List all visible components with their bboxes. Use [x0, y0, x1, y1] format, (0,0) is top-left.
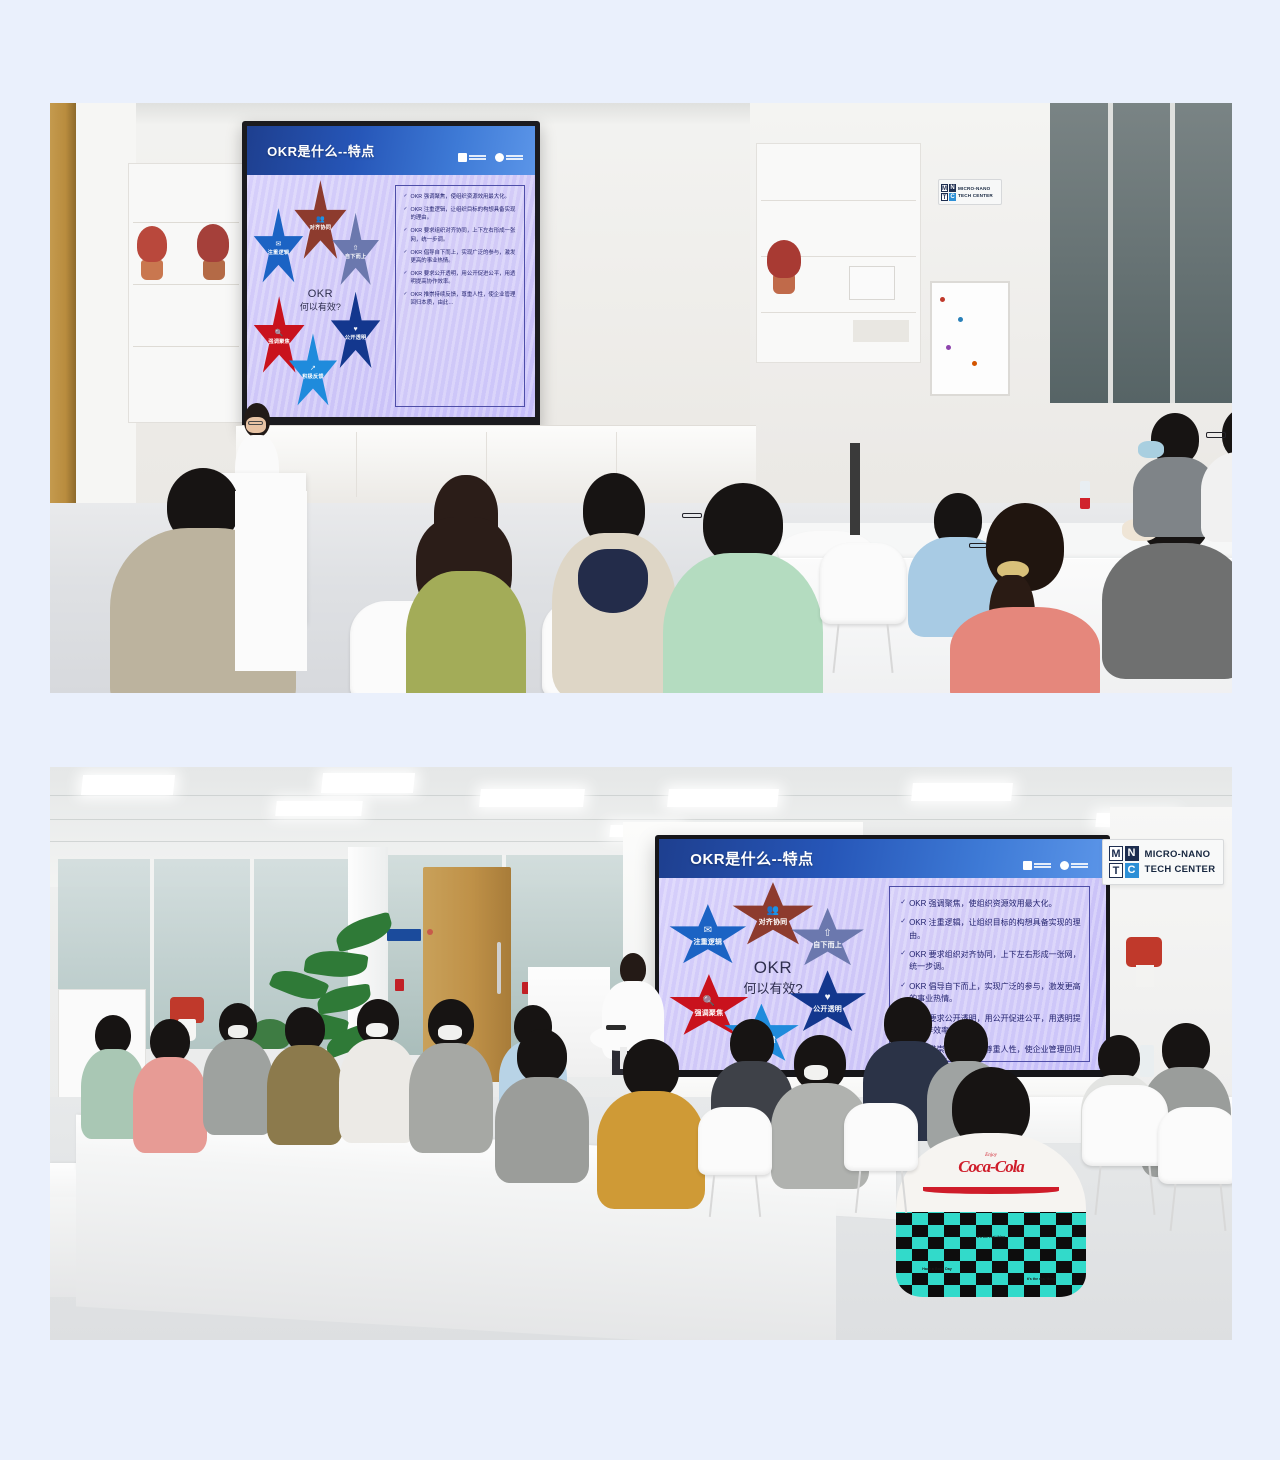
micro-nano-tech-center-logo — [458, 153, 486, 162]
check-icon: ✓ — [403, 249, 407, 266]
jacket-tag: Have a Good Day — [920, 1267, 954, 1271]
slide-bullet: ✓ OKR 倡导自下而上，实现广泛的参与，激发更高的事业热情。 — [403, 249, 518, 266]
slide-header-logos — [1023, 861, 1088, 870]
star-label: 对齐协同 — [310, 224, 332, 231]
check-icon: ✓ — [403, 227, 407, 244]
heart-icon: ♥ — [354, 326, 358, 333]
magnifier-icon: 🔍 — [275, 330, 284, 337]
star-diagram-center: OKR 何以有效? — [729, 952, 817, 1004]
bullet-text: OKR 倡导自下而上，实现广泛的参与，激发更高的事业热情。 — [411, 249, 518, 266]
monogram-m: M — [941, 184, 948, 192]
checkerboard-pattern — [896, 1212, 1086, 1297]
plant-foliage — [767, 240, 801, 278]
plant-foliage — [137, 226, 167, 262]
left-shelf-unit — [128, 163, 244, 423]
navy-shawl — [578, 549, 648, 613]
microphone-stand — [850, 443, 860, 535]
screenshot-page: M N T C MICRO-NANO TECH CENTER OKR是什么--特… — [0, 0, 1280, 1460]
attendee-grey-shirt-3 — [494, 1029, 590, 1179]
coca-cola-jacket: Enjoy Coca-Cola it's the real thing Have… — [896, 1133, 1086, 1297]
display-screen: OKR是什么--特点 👥 — [247, 126, 535, 417]
remote-control — [606, 1025, 626, 1030]
envelope-icon: ✉ — [276, 241, 282, 248]
glass-mullion — [1170, 103, 1175, 403]
check-icon: ✓ — [403, 291, 407, 308]
slide-bullet-box: ✓ OKR 强调聚焦，使组织资源效用最大化。 ✓ OKR 注重逻辑，让组织目标的… — [395, 185, 525, 407]
coca-cola-logo: Enjoy Coca-Cola — [958, 1153, 1024, 1175]
slide-bullet: ✓ OKR 注重逻辑，让组织目标的构想具备实现的理由。 — [900, 917, 1081, 942]
shelf-books — [853, 320, 909, 342]
picture-frame — [849, 266, 895, 300]
mntc-monogram-icon: M N T C — [941, 184, 956, 201]
wall-sign-micro-nano-tech-center: M N T C MICRO-NANO TECH CENTER — [1102, 839, 1224, 885]
face-mask — [438, 1025, 462, 1040]
monogram-m: M — [1109, 846, 1123, 861]
magnifier-icon: 🔍 — [703, 997, 715, 1007]
coca-cola-swoosh — [923, 1187, 1060, 1194]
wall-sign-micro-nano-tech-center: M N T C MICRO-NANO TECH CENTER — [938, 179, 1002, 205]
whiteboard — [930, 281, 1010, 396]
slide-title: OKR是什么--特点 — [690, 848, 813, 869]
ceiling-light — [911, 783, 1013, 801]
jacket-tag: it's the real thing — [974, 1235, 1008, 1239]
presenter-face — [246, 417, 266, 433]
chair — [1082, 1085, 1168, 1215]
attendee-white-shirt — [1200, 408, 1232, 538]
check-icon: ✓ — [900, 917, 906, 942]
attendee-navy-scarf — [550, 473, 678, 693]
wall-sign-line2: TECH CENTER — [1145, 862, 1216, 877]
micro-nano-tech-center-logo — [1023, 861, 1051, 870]
monogram-n: N — [949, 184, 956, 192]
star-diagram-center: OKR 何以有效? — [292, 268, 349, 333]
slide-bullet: ✓ OKR 要求组织对齐协同，上下左右形成一张网，统一步调。 — [403, 227, 518, 244]
bullet-text: OKR 注重逻辑，让组织目标的构想具备实现的理由。 — [909, 917, 1081, 942]
glasses-icon — [682, 513, 702, 518]
wall-sign-line1: MICRO-NANO — [1145, 847, 1216, 862]
ceiling-light — [275, 801, 363, 816]
vase — [1136, 965, 1154, 987]
heart-icon: ♥ — [825, 993, 831, 1003]
upward-arrow-icon: ⇧ — [353, 245, 359, 252]
upward-arrow-icon: ⇧ — [823, 929, 831, 939]
star-positive-feedback: ↗ 积极反馈 — [288, 333, 338, 412]
slide-header: OKR是什么--特点 — [247, 126, 535, 175]
slide-bullet: ✓ OKR 推崇持续反馈，尊重人性，使企业管理回归本质，由此… — [403, 291, 518, 308]
bullet-text: OKR 强调聚焦，使组织资源效用最大化。 — [909, 898, 1057, 910]
people-icon: 👥 — [767, 906, 779, 916]
door-handle[interactable] — [497, 942, 501, 994]
chair — [1158, 1107, 1232, 1231]
attendee-cocacola: Enjoy Coca-Cola it's the real thing Have… — [896, 1067, 1086, 1297]
mntc-monogram-icon: M N T C — [1109, 846, 1139, 878]
plant-foliage — [197, 224, 229, 262]
glasses-icon — [969, 543, 987, 548]
attendee-khaki-shirt — [266, 1007, 344, 1139]
attendee-white-shirt — [338, 999, 418, 1139]
face-mask — [366, 1023, 388, 1037]
bullet-text: OKR 要求公开透明，用公开促进公平，用透明提高协作效率。 — [411, 270, 518, 287]
star-align-collaborate: 👥 对齐协同 — [293, 180, 347, 266]
coca-cola-wordmark: Coca-Cola — [958, 1158, 1024, 1175]
attendee-grey-shirt-2 — [408, 999, 494, 1149]
bullet-text: OKR 要求组织对齐协同，上下左右形成一张网，统一步调。 — [909, 949, 1081, 974]
star-label: 自下而上 — [345, 253, 367, 260]
face-mask — [228, 1025, 248, 1038]
check-icon: ✓ — [900, 949, 906, 974]
okr-star-diagram: 👥 对齐协同 ✉ 注重逻辑 ⇧ 自下而上 — [253, 180, 388, 412]
envelope-icon: ✉ — [704, 926, 712, 936]
wall-display-top: OKR是什么--特点 👥 — [242, 121, 540, 429]
chair — [820, 543, 906, 673]
slide-bullet: ✓ OKR 强调聚焦，使组织资源效用最大化。 — [403, 193, 518, 201]
seminar-photo-bottom: OKR是什么--特点 👥 — [50, 767, 1232, 1340]
star-label: 积极反馈 — [302, 373, 324, 380]
center-line2: 何以有效? — [743, 978, 802, 997]
red-flower-arrangement — [1126, 937, 1162, 967]
glasses-icon — [248, 421, 263, 425]
wood-column — [50, 103, 76, 523]
ceiling-light — [667, 789, 779, 807]
glasses-icon — [1206, 432, 1226, 438]
monogram-n: N — [1125, 846, 1139, 861]
star-align-collaborate: 👥 对齐协同 — [731, 882, 815, 950]
monogram-t: T — [1109, 863, 1123, 878]
okr-slide: OKR是什么--特点 👥 — [247, 126, 535, 417]
slide-bullet: ✓ OKR 注重逻辑，让组织目标的构想具备实现的理由。 — [403, 206, 518, 223]
white-divider-panel — [235, 491, 307, 671]
fire-alarm-icon — [395, 979, 404, 991]
center-line1: OKR — [754, 958, 792, 978]
plant-pot — [141, 260, 163, 280]
attendee-coral-top — [945, 503, 1105, 693]
face-mask — [1138, 441, 1164, 458]
partner-lab-logo — [1060, 861, 1088, 870]
check-icon: ✓ — [403, 270, 407, 287]
star-label: 强调聚焦 — [694, 1008, 723, 1018]
attendee-mint-shirt — [660, 483, 825, 693]
bullet-text: OKR 要求组织对齐协同，上下左右形成一张网，统一步调。 — [411, 227, 518, 244]
smoke-detector-icon — [427, 929, 433, 935]
center-line1: OKR — [308, 288, 333, 300]
wall-sign-line2: TECH CENTER — [958, 192, 993, 199]
check-icon: ✓ — [900, 898, 906, 910]
glass-partition — [1050, 103, 1232, 403]
check-icon: ✓ — [403, 193, 407, 201]
right-shelf-unit — [756, 143, 921, 363]
slide-title: OKR是什么--特点 — [267, 141, 375, 160]
monogram-c: C — [949, 193, 956, 201]
slide-body: 👥 对齐协同 ✉ 注重逻辑 ⇧ 自下而上 — [247, 175, 535, 417]
ceiling-light — [321, 773, 415, 793]
slide-bullet: ✓ OKR 要求组织对齐协同，上下左右形成一张网，统一步调。 — [900, 949, 1081, 974]
monogram-t: T — [941, 193, 948, 201]
bullet-text: OKR 注重逻辑，让组织目标的构想具备实现的理由。 — [411, 206, 518, 223]
star-label: 公开透明 — [813, 1004, 842, 1014]
star-label: 注重逻辑 — [268, 249, 290, 256]
star-label: 公开透明 — [345, 334, 367, 341]
wall-sign-line1: MICRO-NANO — [958, 185, 993, 192]
star-label: 注重逻辑 — [693, 937, 722, 947]
bullet-text: OKR 推崇持续反馈，尊重人性，使企业管理回归本质，由此… — [411, 291, 518, 308]
slide-header: OKR是什么--特点 — [659, 839, 1106, 878]
feedback-icon: ↗ — [310, 365, 316, 372]
glass-mullion — [1108, 103, 1113, 403]
slide-bullet: ✓ OKR 要求公开透明，用公开促进公平，用透明提高协作效率。 — [403, 270, 518, 287]
chair — [844, 1103, 918, 1213]
plant-pot — [203, 260, 225, 280]
attendee-mustard-tee — [596, 1039, 706, 1205]
chair — [698, 1107, 772, 1217]
seminar-photo-top: M N T C MICRO-NANO TECH CENTER OKR是什么--特… — [50, 103, 1232, 693]
star-label: 对齐协同 — [759, 917, 788, 927]
jacket-tag: it's the real thing — [1024, 1277, 1058, 1281]
monogram-c: C — [1125, 863, 1139, 878]
bullet-text: OKR 强调聚焦，使组织资源效用最大化。 — [411, 193, 510, 201]
water-bottle — [1080, 481, 1090, 509]
ceiling-light — [479, 789, 585, 807]
star-label: 自下而上 — [813, 940, 842, 950]
ceiling-light — [81, 775, 175, 795]
center-line2: 何以有效? — [300, 300, 341, 313]
attendee-olive-dress — [402, 475, 530, 693]
check-icon: ✓ — [403, 206, 407, 223]
attendee-pink-top — [132, 1019, 208, 1147]
partner-lab-logo — [495, 153, 523, 162]
face-mask — [804, 1065, 828, 1080]
slide-bullet: ✓ OKR 强调聚焦，使组织资源效用最大化。 — [900, 898, 1081, 910]
people-icon: 👥 — [316, 216, 325, 223]
star-label: 强调聚焦 — [268, 338, 290, 345]
attendee-grey-shirt — [202, 1003, 274, 1131]
slide-header-logos — [458, 153, 523, 162]
